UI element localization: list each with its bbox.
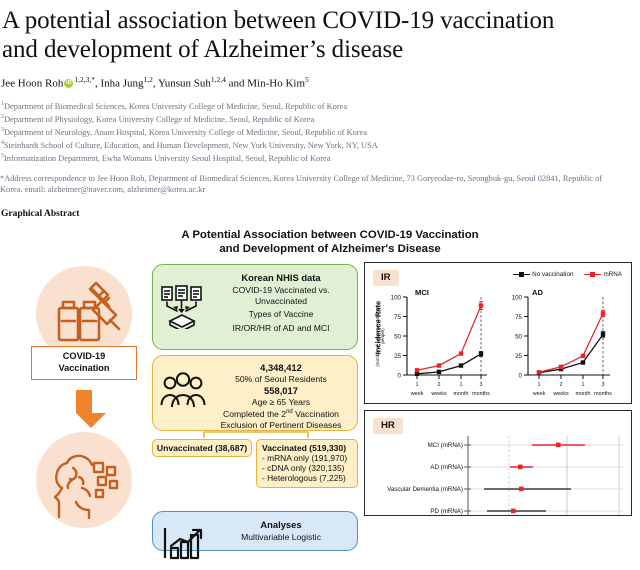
affiliation-item: 3Department of Neurology, Anam Hospital,… (1, 125, 640, 138)
ga-title-line-1: A Potential Association between COVID-19… (20, 228, 640, 242)
svg-text:3: 3 (480, 382, 483, 388)
affiliation-text: Steinhardt School of Culture, Education,… (4, 140, 378, 149)
ir-panel-badge: IR (373, 270, 399, 286)
ir-y-axis-label: Incidence Rate (number of cases per 100 … (370, 291, 382, 383)
author-4-affil-marks: 5 (305, 75, 309, 84)
group-split-row: Unvaccinated (38,687) Vaccinated (519,33… (152, 434, 358, 490)
affiliation-item: 2Department of Physiology, Korea Univers… (1, 112, 640, 125)
svg-text:AD (mRNA): AD (mRNA) (430, 464, 463, 471)
orcid-icon[interactable] (64, 79, 73, 88)
author-name-2[interactable]: , Inha Jung (95, 78, 144, 90)
ir-chart-mci: Incidence Rate (number of cases per 100 … (369, 287, 498, 399)
ir-charts: Incidence Rate (number of cases per 100 … (369, 287, 627, 399)
legend-label-mrna: mRNA (603, 271, 622, 278)
nhis-data-line: COVID-19 Vaccinated vs. (211, 285, 351, 296)
brain-icon-circle (36, 432, 132, 528)
svg-text:1: 1 (538, 382, 541, 388)
affiliation-text: Department of Neurology, Anam Hospital, … (4, 127, 367, 136)
graphical-abstract-heading: Graphical Abstract (1, 209, 640, 219)
connector-lines (162, 429, 350, 439)
analyses-title: Analyses (211, 519, 351, 530)
vaccinated-label: Vaccinated (519,330) (262, 443, 352, 453)
nhis-data-line: IR/OR/HR of AD and MCI (211, 323, 351, 334)
svg-text:100: 100 (512, 294, 523, 301)
svg-text:months: months (594, 391, 612, 397)
svg-text:weeks: weeks (552, 391, 569, 397)
cohort-sub: 558,017 (211, 386, 351, 397)
svg-text:1: 1 (460, 382, 463, 388)
affiliation-text: Department of Biomedical Sciences, Korea… (4, 101, 347, 110)
legend-swatch-mrna (584, 274, 601, 275)
vaccinated-subgroup: - mRNA only (191,970) (262, 453, 352, 463)
affiliation-text: Department of Physiology, Korea Universi… (4, 114, 314, 123)
svg-text:month: month (454, 391, 469, 397)
nhis-data-box: Korean NHIS data COVID-19 Vaccinated vs.… (152, 264, 358, 350)
unvaccinated-group-box: Unvaccinated (38,687) (152, 439, 252, 457)
brain-degeneration-icon (36, 432, 132, 528)
graphical-abstract-figure: COVID-19 Vaccination (0, 262, 640, 522)
ir-ylabel-sub: (number of cases per 100 000 people) (375, 304, 385, 368)
mci-line-chart: 0 25 50 75 100 1 (369, 287, 497, 399)
svg-text:week: week (532, 391, 546, 397)
svg-text:week: week (410, 391, 424, 397)
mci-plot-title: MCI (415, 288, 429, 297)
hazard-ratio-panel: HR (364, 410, 632, 516)
ga-title-line-2: and Development of Alzheimer's Disease (20, 242, 640, 256)
svg-text:MCI (mRNA): MCI (mRNA) (428, 442, 463, 449)
svg-text:50: 50 (394, 333, 401, 340)
svg-text:weeks: weeks (430, 391, 447, 397)
legend-label-no-vaccination: No vaccination (532, 271, 573, 278)
svg-text:25: 25 (394, 353, 401, 360)
cohort-box: 4,348,412 50% of Seoul Residents 558,017… (152, 355, 358, 431)
svg-text:2: 2 (560, 382, 563, 388)
hr-forest-plot: MCI (mRNA) AD (mRNA) Vascular Dementia (… (365, 433, 633, 515)
svg-text:0: 0 (519, 372, 523, 379)
svg-text:100: 100 (391, 294, 402, 301)
covid-vaccination-label: COVID-19 Vaccination (31, 346, 137, 380)
title-line-1: A potential association between COVID-19… (2, 6, 618, 35)
vaccinated-subgroup: - Heterologous (7,225) (262, 473, 352, 483)
author-name-3[interactable]: , Yunsun Suh (153, 78, 211, 90)
affiliation-item: 4Steinhardt School of Culture, Education… (1, 138, 640, 151)
affiliation-item: 5Informatization Department, Ewha Womans… (1, 151, 640, 164)
svg-text:3: 3 (602, 382, 605, 388)
svg-text:Vascular Dementia (mRNA): Vascular Dementia (mRNA) (387, 486, 463, 493)
author-name-4[interactable]: and Min-Ho Kim (226, 78, 305, 90)
affiliation-item: 1Department of Biomedical Sciences, Kore… (1, 99, 640, 112)
legend-item-mrna: mRNA (584, 271, 622, 278)
ga-left-column: COVID-19 Vaccination (18, 266, 150, 528)
analyses-line: Multivariable Logistic (211, 532, 351, 543)
svg-text:75: 75 (394, 314, 401, 321)
incidence-rate-panel: IR No vaccination mRNA Incide (364, 262, 632, 404)
vaccinated-subgroup: - cDNA only (320,135) (262, 463, 352, 473)
legend-swatch-no-vaccination (513, 274, 530, 275)
cohort-line: Age ≥ 65 Years (211, 397, 351, 408)
forest-plot-svg: MCI (mRNA) AD (mRNA) Vascular Dementia (… (365, 433, 631, 515)
ga-right-column: IR No vaccination mRNA Incide (364, 262, 632, 516)
graphical-abstract-title: A Potential Association between COVID-19… (0, 228, 640, 256)
article-preview-page: A potential association between COVID-19… (0, 0, 640, 522)
author-2-affil-marks: 1,2 (144, 75, 153, 84)
cohort-line-second-vacc: Completed the 2nd Vaccination (211, 407, 351, 419)
cohort-total: 4,348,412 (211, 363, 351, 374)
ga-middle-column: Korean NHIS data COVID-19 Vaccinated vs.… (152, 264, 358, 551)
svg-text:PD (mRNA): PD (mRNA) (430, 508, 463, 515)
svg-text:0: 0 (398, 372, 402, 379)
down-arrow-icon (76, 390, 92, 428)
author-list: Jee Hoon Roh1,2,3,*, Inha Jung1,2, Yunsu… (1, 73, 640, 91)
vaccine-label-line-2: Vaccination (32, 363, 136, 375)
svg-text:1: 1 (582, 382, 585, 388)
vaccinated-group-box: Vaccinated (519,330) - mRNA only (191,97… (256, 439, 358, 488)
author-1-affil-marks: 1,2,3,* (74, 75, 95, 84)
svg-text:25: 25 (515, 353, 522, 360)
svg-text:50: 50 (515, 333, 522, 340)
affiliation-text: Informatization Department, Ewha Womans … (4, 153, 330, 162)
vaccine-label-line-1: COVID-19 (32, 351, 136, 363)
svg-text:2: 2 (438, 382, 441, 388)
hr-panel-badge: HR (373, 418, 403, 434)
documents-database-icon (160, 285, 206, 329)
bar-chart-trend-icon (160, 526, 206, 570)
ir-legend: No vaccination mRNA (513, 271, 622, 278)
nhis-data-line: Types of Vaccine (211, 309, 351, 320)
analyses-box: Analyses Multivariable Logistic (152, 511, 358, 551)
nhis-data-title: Korean NHIS data (211, 272, 351, 283)
correspondence-note: *Address correspondence to Jee Hoon Roh,… (0, 173, 625, 195)
page-title: A potential association between COVID-19… (0, 0, 640, 64)
svg-text:75: 75 (515, 314, 522, 321)
affiliation-list: 1Department of Biomedical Sciences, Kore… (1, 99, 640, 164)
author-3-affil-marks: 1,2,4 (211, 75, 226, 84)
cohort-total-desc: 50% of Seoul Residents (211, 374, 351, 385)
ir-chart-ad: AD 0 25 (498, 287, 627, 399)
legend-item-no-vaccination: No vaccination (513, 271, 573, 278)
title-line-2: and development of Alzheimer’s disease (2, 35, 618, 64)
author-name-1[interactable]: Jee Hoon Roh (1, 78, 63, 90)
svg-text:month: month (576, 391, 591, 397)
unvaccinated-label: Unvaccinated (38,687) (156, 443, 248, 453)
svg-text:1: 1 (416, 382, 419, 388)
people-group-icon (160, 371, 206, 415)
ad-line-chart: 0 25 50 75 100 1 2 (498, 287, 626, 399)
svg-text:months: months (472, 391, 490, 397)
ad-plot-title: AD (532, 288, 543, 297)
nhis-data-line: Unvaccinated (211, 296, 351, 307)
